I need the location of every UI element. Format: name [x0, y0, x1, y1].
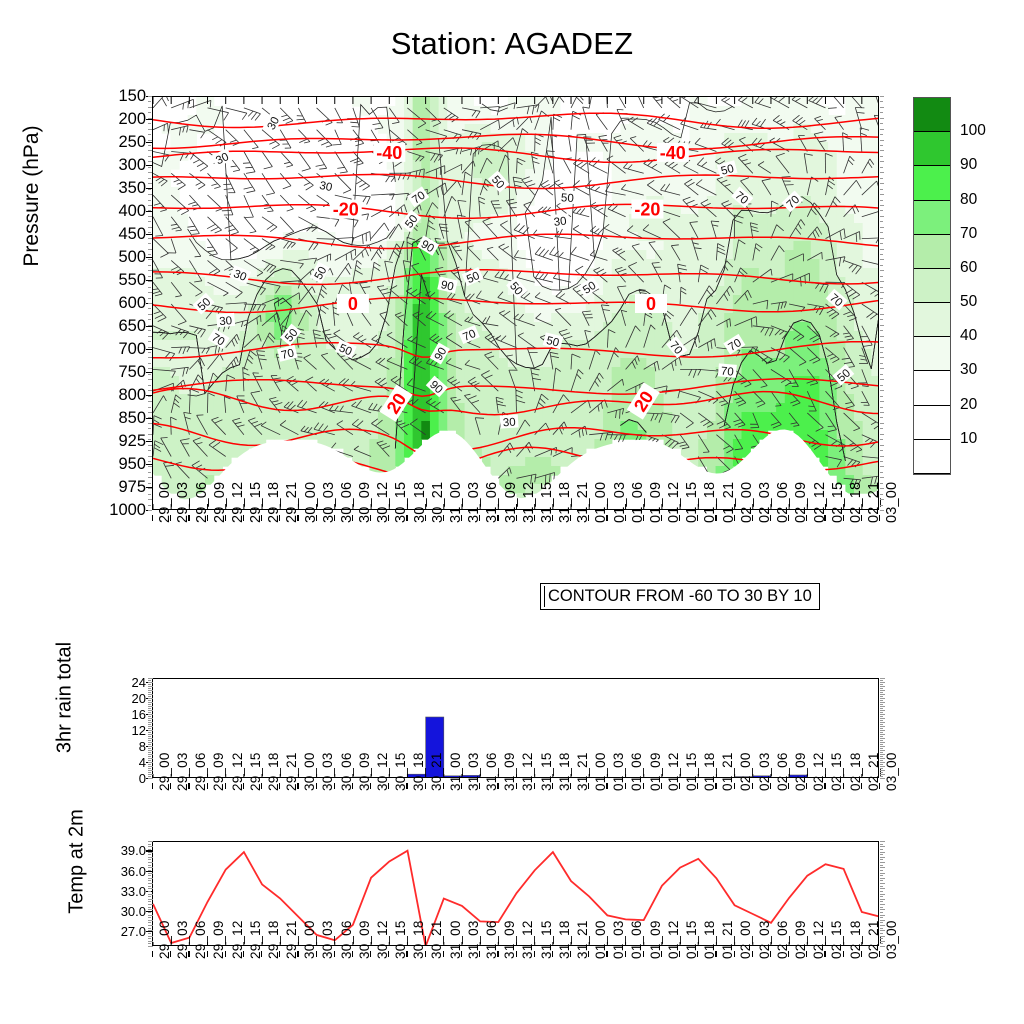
shade-cell: [871, 214, 879, 224]
wind-barb-flag: [161, 438, 168, 439]
wind-barb-flag: [822, 252, 823, 259]
shade-cell: [361, 322, 370, 332]
shade-cell: [638, 421, 647, 431]
shade-cell: [309, 412, 318, 422]
shade-cell: [698, 124, 707, 134]
shade-cell: [352, 376, 361, 386]
wind-barb-flag: [354, 220, 358, 227]
shade-cell: [733, 124, 742, 134]
shade-cell: [793, 169, 802, 179]
shade-cell: [283, 412, 292, 422]
shade-cell: [646, 367, 655, 377]
shade-cell: [837, 151, 846, 161]
shade-cell: [421, 115, 430, 125]
shade-cell: [439, 97, 448, 107]
shade-cell: [482, 430, 491, 440]
wind-barb-flag: [230, 140, 237, 142]
wind-barb-flag: [683, 97, 689, 98]
shade-cell: [759, 250, 768, 260]
shade-cell: [690, 358, 699, 368]
shade-cell: [465, 286, 474, 296]
shade-cell: [300, 250, 309, 260]
shade-cell: [811, 106, 820, 116]
shade-cell: [759, 286, 768, 296]
shade-cell: [612, 223, 621, 233]
wind-barb-flag: [250, 232, 256, 233]
shade-cell: [698, 448, 707, 458]
shade-cell: [248, 286, 257, 296]
shade-cell: [802, 421, 811, 431]
shade-cell: [231, 412, 240, 422]
shade-cell: [854, 133, 863, 143]
shade-cell: [707, 223, 716, 233]
wind-barb-flag: [538, 207, 543, 211]
wind-barb-flag: [211, 227, 219, 231]
shade-cell: [655, 313, 664, 323]
shade-cell: [153, 295, 162, 305]
shade-cell: [222, 439, 231, 449]
shade-cell: [188, 313, 197, 323]
shade-cell: [222, 430, 231, 440]
shade-cell: [404, 322, 413, 332]
shade-cell: [196, 313, 205, 323]
shade-cell: [517, 457, 526, 467]
shade-cell: [828, 466, 837, 476]
shade-cell: [811, 259, 820, 269]
shade-cell: [491, 322, 500, 332]
wind-barb-shaft: [571, 254, 589, 260]
shade-cell: [793, 97, 802, 107]
wind-barb-flag: [654, 97, 660, 98]
wind-barb-flag: [321, 142, 329, 145]
wind-barb-flag: [264, 167, 273, 169]
shade-cell: [811, 385, 820, 395]
shade-cell: [819, 430, 828, 440]
shade-cell: [655, 349, 664, 359]
shade-cell: [828, 340, 837, 350]
wind-barb-shaft: [618, 97, 626, 108]
shade-cell: [542, 430, 551, 440]
wind-barb-flag: [363, 186, 370, 190]
shade-cell: [387, 439, 396, 449]
shade-cell: [508, 124, 517, 134]
shade-cell: [828, 142, 837, 152]
wind-barb-shaft: [226, 130, 240, 143]
shade-cell: [776, 394, 785, 404]
shade-cell: [759, 268, 768, 278]
wind-barb-flag: [598, 208, 603, 211]
wind-barb-flag: [281, 115, 287, 117]
shade-cell: [542, 367, 551, 377]
shade-cell: [439, 160, 448, 170]
shade-cell: [793, 124, 802, 134]
shade-cell: [750, 331, 759, 341]
wind-barb-flag: [350, 122, 358, 123]
wind-barb-shaft: [189, 173, 205, 185]
shade-cell: [170, 439, 179, 449]
shade-cell: [863, 268, 872, 278]
isotherm-label: -40: [373, 143, 405, 163]
wind-barb-flag: [200, 166, 208, 171]
shade-cell: [404, 106, 413, 116]
shade-cell: [387, 124, 396, 134]
shade-cell: [837, 142, 846, 152]
shade-cell: [343, 367, 352, 377]
shade-cell: [551, 412, 560, 422]
shade-cell: [655, 232, 664, 242]
shade-cell: [811, 286, 820, 296]
shade-cell: [369, 304, 378, 314]
shade-cell: [690, 448, 699, 458]
shade-cell: [767, 286, 776, 296]
wind-barb-flag: [359, 183, 366, 187]
shade-cell: [655, 133, 664, 143]
shade-cell: [577, 142, 586, 152]
shade-cell: [568, 322, 577, 332]
wind-barb-flag: [352, 127, 360, 128]
shade-cell: [594, 259, 603, 269]
shade-cell: [733, 304, 742, 314]
shade-cell: [447, 97, 456, 107]
shade-cell: [776, 286, 785, 296]
shade-cell: [854, 268, 863, 278]
shade-cell: [863, 97, 872, 107]
shade-cell: [534, 160, 543, 170]
shade-cell: [742, 214, 751, 224]
shade-cell: [672, 223, 681, 233]
shade-cell: [482, 169, 491, 179]
shade-cell: [863, 457, 872, 467]
wind-barb-shaft: [335, 130, 342, 145]
shade-cell: [793, 376, 802, 386]
shade-cell: [560, 304, 569, 314]
shade-cell: [300, 259, 309, 269]
wind-barb-flag: [162, 98, 167, 106]
shade-cell: [369, 412, 378, 422]
shade-cell: [845, 268, 854, 278]
shade-cell: [179, 358, 188, 368]
main-y-axis-labels: 1502002503003504004505005506006507007508…: [80, 96, 146, 510]
shade-cell: [369, 322, 378, 332]
shade-cell: [724, 106, 733, 116]
wind-barb-flag: [304, 142, 310, 143]
shade-cell: [742, 223, 751, 233]
shade-cell: [413, 250, 422, 260]
shade-cell: [672, 376, 681, 386]
shade-cell: [681, 331, 690, 341]
wind-barb-shaft: [651, 97, 662, 108]
shade-cell: [785, 223, 794, 233]
shade-cell: [871, 304, 879, 314]
wind-barb-flag: [165, 97, 168, 101]
shade-cell: [153, 466, 162, 476]
shade-cell: [871, 466, 879, 476]
shade-cell: [196, 106, 205, 116]
shade-cell: [456, 304, 465, 314]
wind-barb-flag: [343, 190, 351, 194]
shade-cell: [534, 169, 543, 179]
wind-barb-flag: [196, 182, 202, 185]
shade-cell: [620, 313, 629, 323]
shade-cell: [352, 367, 361, 377]
shade-cell: [690, 412, 699, 422]
shade-cell: [681, 322, 690, 332]
shade-cell: [802, 97, 811, 107]
shade-cell: [560, 376, 569, 386]
shade-cell: [283, 367, 292, 377]
wind-barb-flag: [211, 184, 217, 186]
wind-barb-flag: [197, 163, 204, 167]
shade-cell: [750, 205, 759, 215]
shade-cell: [413, 160, 422, 170]
wind-barb-flag: [384, 223, 389, 231]
shade-cell: [326, 385, 335, 395]
shade-cell: [837, 331, 846, 341]
shade-cell: [603, 403, 612, 413]
figure-root: Station: AGADEZ Pressure (hPa) 150200250…: [0, 0, 1024, 1024]
shade-cell: [724, 214, 733, 224]
main-y-tick-label: 700: [118, 341, 146, 357]
shade-cell: [517, 322, 526, 332]
shade-cell: [517, 385, 526, 395]
shade-cell: [750, 178, 759, 188]
shade-cell: [179, 277, 188, 287]
wind-barb-flag: [593, 160, 600, 166]
shade-cell: [421, 412, 430, 422]
shade-cell: [802, 187, 811, 197]
shade-cell: [586, 439, 595, 449]
shade-cell: [395, 124, 404, 134]
shade-cell: [560, 457, 569, 467]
shade-cell: [378, 367, 387, 377]
shade-cell: [369, 286, 378, 296]
shade-cell: [716, 331, 725, 341]
shade-cell: [733, 403, 742, 413]
shade-cell: [231, 367, 240, 377]
shade-cell: [854, 421, 863, 431]
shade-cell: [551, 439, 560, 449]
wind-barb-flag: [192, 205, 198, 206]
shade-cell: [724, 115, 733, 125]
shade-cell: [612, 322, 621, 332]
shade-cell: [378, 124, 387, 134]
wind-barb-flag: [595, 187, 600, 191]
shade-cell: [326, 412, 335, 422]
wind-barb-shaft: [244, 130, 258, 148]
shade-cell: [785, 115, 794, 125]
shade-cell: [759, 223, 768, 233]
label-text: -40: [660, 143, 686, 163]
wind-barb-flag: [231, 166, 237, 167]
shade-cell: [317, 331, 326, 341]
shade-cell: [499, 358, 508, 368]
shade-cell: [491, 232, 500, 242]
shade-cell: [854, 385, 863, 395]
time-height-cross-section[interactable]: 3030305070507070309050503050509050505070…: [152, 96, 879, 510]
shade-cell: [854, 196, 863, 206]
main-y-tick-label: 400: [118, 203, 146, 219]
main-y-tick-label: 150: [118, 88, 146, 104]
shade-cell: [551, 313, 560, 323]
shade-cell: [542, 358, 551, 368]
wind-barb-flag: [187, 226, 195, 227]
main-y-tick-label: 925: [118, 433, 146, 449]
shade-cell: [733, 430, 742, 440]
shade-cell: [742, 331, 751, 341]
shade-cell: [733, 115, 742, 125]
shade-cell: [162, 448, 171, 458]
wind-barb-flag: [287, 209, 294, 211]
shade-cell: [465, 250, 474, 260]
shade-cell: [378, 349, 387, 359]
shade-cell: [707, 295, 716, 305]
shade-cell: [257, 259, 266, 269]
shade-cell: [283, 259, 292, 269]
shade-cell: [802, 232, 811, 242]
shade-cell: [465, 196, 474, 206]
shade-cell: [646, 322, 655, 332]
shade-cell: [240, 403, 249, 413]
shade-cell: [698, 304, 707, 314]
shade-cell: [672, 313, 681, 323]
shade-cell: [767, 268, 776, 278]
shade-cell: [638, 331, 647, 341]
shade-cell: [421, 430, 430, 440]
shade-cell: [819, 313, 828, 323]
shade-cell: [586, 394, 595, 404]
shade-cell: [222, 295, 231, 305]
shade-cell: [517, 97, 526, 107]
shade-cell: [698, 232, 707, 242]
shade-cell: [629, 151, 638, 161]
shade-cell: [430, 205, 439, 215]
wind-barb-shaft: [280, 217, 294, 232]
wind-barb-flag: [519, 225, 525, 231]
shade-cell: [707, 313, 716, 323]
shade-cell: [456, 187, 465, 197]
shade-cell: [681, 313, 690, 323]
wind-barb-flag: [244, 187, 253, 189]
shade-cell: [162, 187, 171, 197]
shade-cell: [586, 376, 595, 386]
wind-barb-shaft: [153, 97, 169, 108]
wind-barb-flag: [250, 247, 256, 249]
shade-cell: [793, 160, 802, 170]
wind-barb-flag: [335, 220, 339, 227]
shade-cell: [716, 205, 725, 215]
wind-barb-flag: [284, 162, 290, 164]
shade-cell: [413, 97, 422, 107]
shade-cell: [525, 385, 534, 395]
shade-cell: [863, 250, 872, 260]
shade-cell: [871, 403, 879, 413]
shade-cell: [387, 259, 396, 269]
wind-barb-flag: [270, 227, 277, 232]
shade-cell: [871, 430, 879, 440]
shade-cell: [560, 367, 569, 377]
shade-cell: [352, 322, 361, 332]
shade-cell: [343, 439, 352, 449]
shade-cell: [508, 106, 517, 116]
shade-cell: [603, 421, 612, 431]
shade-cell: [750, 403, 759, 413]
shade-cell: [655, 187, 664, 197]
shade-cell: [707, 403, 716, 413]
shade-cell: [162, 241, 171, 251]
shade-cell: [473, 430, 482, 440]
shade-cell: [819, 412, 828, 422]
shade-cell: [785, 250, 794, 260]
shade-cell: [352, 250, 361, 260]
shade-cell: [776, 313, 785, 323]
shade-cell: [283, 250, 292, 260]
shade-cell: [205, 457, 214, 467]
shade-cell: [863, 223, 872, 233]
shade-cell: [162, 178, 171, 188]
wind-barb-flag: [340, 172, 348, 173]
shade-cell: [439, 412, 448, 422]
shade-cell: [577, 430, 586, 440]
wind-barb-shaft: [262, 195, 273, 211]
shade-cell: [742, 106, 751, 116]
shade-cell: [811, 187, 820, 197]
shade-cell: [248, 376, 257, 386]
shade-cell: [681, 214, 690, 224]
shade-cell: [742, 358, 751, 368]
shade-cell: [266, 376, 275, 386]
shade-cell: [361, 97, 370, 107]
shade-cell: [439, 142, 448, 152]
shade-cell: [655, 223, 664, 233]
shade-cell: [473, 223, 482, 233]
shade-cell: [655, 178, 664, 188]
shade-cell: [828, 385, 837, 395]
wind-barb-shaft: [317, 195, 329, 204]
shade-cell: [707, 268, 716, 278]
wind-barb-flag: [198, 185, 205, 189]
shade-cell: [698, 277, 707, 287]
shade-cell: [707, 178, 716, 188]
shade-cell: [759, 340, 768, 350]
shade-cell: [439, 295, 448, 305]
shade-cell: [456, 421, 465, 431]
shade-cell: [439, 259, 448, 269]
wind-barb-flag: [243, 163, 250, 164]
shade-cell: [620, 178, 629, 188]
shade-cell: [785, 331, 794, 341]
wind-barb-flag: [539, 249, 545, 256]
wind-barb-flag: [670, 97, 678, 99]
shade-cell: [698, 214, 707, 224]
wind-barb-flag: [554, 180, 560, 183]
wind-barb-flag: [543, 274, 548, 280]
shade-cell: [793, 286, 802, 296]
shade-cell: [162, 412, 171, 422]
shade-cell: [205, 421, 214, 431]
shade-cell: [162, 295, 171, 305]
humidity-contour-label: 30: [263, 112, 284, 134]
shade-cell: [473, 304, 482, 314]
shade-cell: [776, 160, 785, 170]
wind-barb-flag: [617, 109, 623, 110]
shade-cell: [283, 394, 292, 404]
shade-cell: [162, 268, 171, 278]
shade-cell: [179, 340, 188, 350]
shade-cell: [240, 286, 249, 296]
wind-barb-flag: [356, 180, 363, 184]
shade-cell: [430, 367, 439, 377]
wind-barb-flag: [183, 103, 184, 109]
